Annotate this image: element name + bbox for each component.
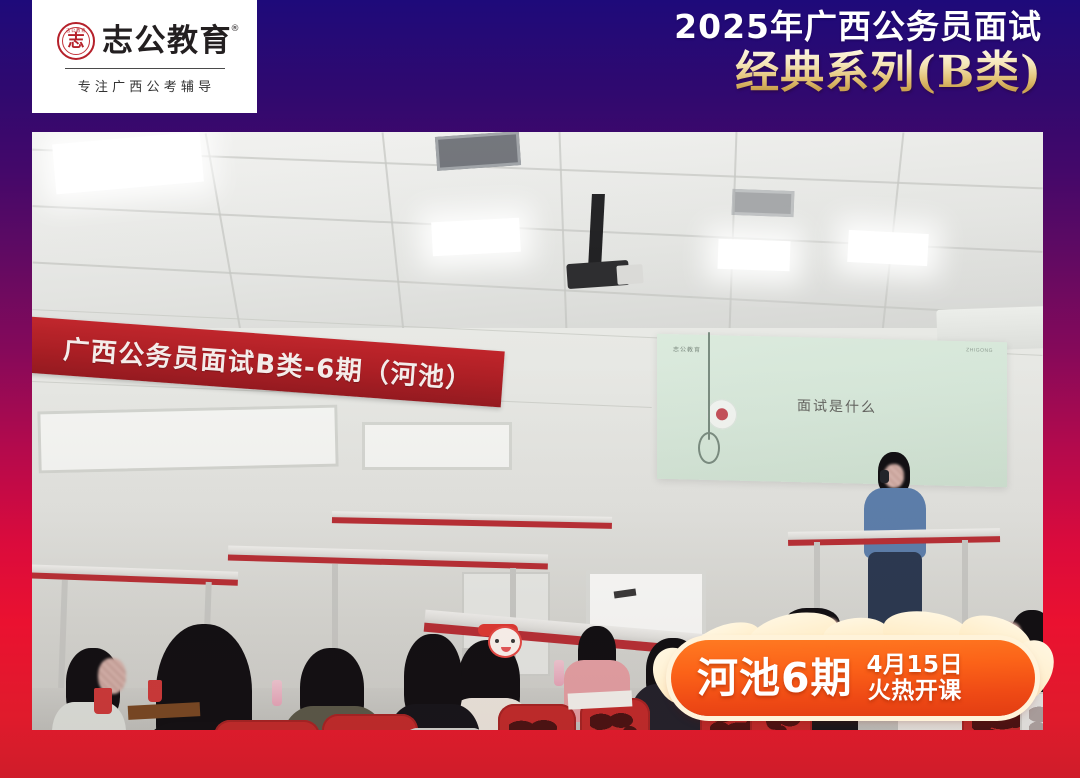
- chair: [214, 720, 320, 730]
- slide-corner-label: 志公教育: [673, 344, 701, 354]
- projector-lens: [616, 264, 643, 285]
- seal-character: 志: [68, 33, 85, 50]
- promo-badge-date: 4月15日: [867, 653, 964, 678]
- brand-logo-row: 志公教育 志 志公教育 ®: [57, 22, 232, 60]
- emoji-face-sticker: [488, 626, 522, 658]
- poster-root: 志公教育 志 志公教育 ® 专注广西公考辅导 2025年广西公务员面试 经典系列…: [0, 0, 1080, 778]
- chair: [498, 704, 576, 730]
- whiteboard: [37, 405, 338, 474]
- promo-badge-right: 4月15日 火热开课: [867, 653, 964, 704]
- poster-title-block: 2025年广西公务员面试 经典系列(B类): [674, 8, 1042, 97]
- logo-divider: [65, 68, 225, 69]
- promo-badge-subtext: 火热开课: [868, 679, 962, 704]
- poster-title-line1: 2025年广西公务员面试: [674, 8, 1042, 47]
- chair: [402, 728, 488, 730]
- slide-corner-label-right: ZHIGONG: [966, 347, 993, 354]
- whiteboard: [362, 422, 512, 470]
- student-body: [52, 702, 126, 730]
- brand-name: 志公教育 ®: [102, 26, 232, 57]
- poster-header: 志公教育 志 志公教育 ® 专注广西公考辅导 2025年广西公务员面试 经典系列…: [0, 0, 1080, 132]
- ceiling-vent: [435, 132, 521, 171]
- cable-loop: [698, 432, 720, 464]
- chair: [322, 714, 418, 730]
- ceiling-light: [431, 218, 521, 257]
- slide-logo-icon: [707, 399, 737, 430]
- registered-mark: ®: [231, 25, 242, 34]
- promo-badge: 河池6期 4月15日 火热开课: [651, 612, 1051, 732]
- hanging-cable: [708, 332, 710, 440]
- brand-name-text: 志公教育: [102, 23, 232, 59]
- brand-logo-card: 志公教育 志 志公教育 ® 专注广西公考辅导: [32, 0, 257, 113]
- cup: [94, 688, 112, 714]
- microphone-icon: [880, 470, 889, 483]
- ceiling-light: [717, 239, 790, 271]
- slide-title: 面试是什么: [797, 395, 877, 417]
- water-bottle: [554, 660, 564, 686]
- promo-badge-main-text: 河池6期: [697, 658, 853, 699]
- brand-tagline: 专注广西公考辅导: [74, 76, 216, 95]
- poster-title-line2: 经典系列(B类): [674, 49, 1042, 97]
- whiteboard-marker: [614, 589, 637, 599]
- promo-badge-plate: 河池6期 4月15日 火热开课: [671, 640, 1035, 716]
- water-bottle: [272, 680, 282, 706]
- cup: [148, 680, 162, 702]
- ceiling-light: [847, 230, 929, 266]
- paper-sheet: [568, 690, 633, 709]
- ceiling-vent: [732, 189, 795, 217]
- teacher-body: [864, 488, 926, 558]
- seal-icon: 志公教育 志: [57, 22, 95, 60]
